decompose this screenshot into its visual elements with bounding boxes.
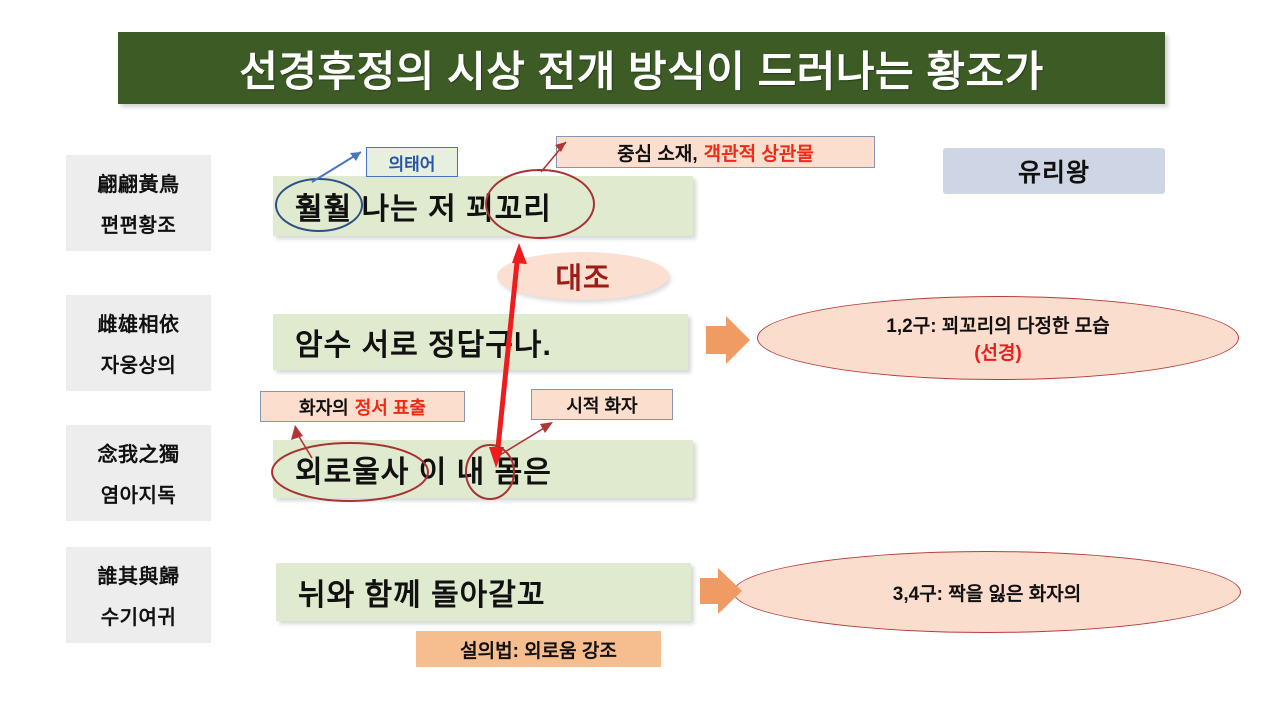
hanja-line: 念我之獨: [98, 438, 180, 467]
callout-poetic-speaker-text: 시적 화자: [566, 392, 637, 418]
contrast-ellipse: 대조: [497, 252, 669, 300]
callout-emotion-plain: 화자의: [299, 394, 349, 420]
hanja-block-2: 雌雄相依 자웅상의: [66, 295, 211, 391]
verse-box-3: 외로울사 이 내 몸은: [273, 440, 693, 498]
slide-title-bar: 선경후정의 시상 전개 방식이 드러나는 황조가: [118, 32, 1165, 104]
verse-text-2: 암수 서로 정답구나.: [295, 320, 552, 364]
summary-2-line1: 3,4구: 짝을 잃은 화자의: [893, 579, 1081, 606]
verse-text-1: 훨훨 나는 저 꾀꼬리: [295, 184, 552, 228]
verse-text-3: 외로울사 이 내 몸은: [295, 447, 552, 491]
verse-box-2: 암수 서로 정답구나.: [273, 314, 688, 370]
hanja-block-3: 念我之獨 염아지독: [66, 425, 211, 521]
block-arrow-right-icon-1: [706, 316, 750, 364]
hangul-line: 수기여귀: [101, 601, 177, 630]
summary-ellipse-1: 1,2구: 꾀꼬리의 다정한 모습 (선경): [757, 296, 1239, 380]
slide-title-text: 선경후정의 시상 전개 방식이 드러나는 황조가: [239, 38, 1044, 99]
hanja-line: 雌雄相依: [98, 308, 180, 337]
hanja-line: 翩翩黃鳥: [98, 168, 180, 197]
hangul-line: 편편황조: [101, 209, 177, 238]
verse-text-4: 뉘와 함께 돌아갈꼬: [298, 570, 545, 614]
callout-central-red: 객관적 상관물: [704, 139, 814, 166]
callout-emotion-red: 정서 표출: [355, 394, 426, 420]
hangul-line: 자웅상의: [101, 349, 177, 378]
verse-box-1: 훨훨 나는 저 꾀꼬리: [273, 176, 693, 236]
author-box: 유리왕: [943, 148, 1165, 194]
callout-speaker-emotion: 화자의 정서 표출: [260, 391, 465, 422]
hangul-line: 염아지독: [101, 479, 177, 508]
contrast-label: 대조: [555, 255, 610, 297]
callout-uitaeeo: 의태어: [366, 147, 458, 177]
callout-central-plain: 중심 소재,: [617, 139, 697, 166]
callout-rhetorical-text: 설의법: 외로움 강조: [460, 636, 617, 663]
callout-uitaeeo-text: 의태어: [389, 150, 436, 175]
author-name: 유리왕: [1018, 153, 1090, 189]
summary-1-line1: 1,2구: 꾀꼬리의 다정한 모습: [886, 311, 1109, 338]
callout-poetic-speaker: 시적 화자: [531, 389, 673, 420]
hanja-block-4: 誰其與歸 수기여귀: [66, 547, 211, 643]
hanja-block-1: 翩翩黃鳥 편편황조: [66, 155, 211, 251]
slide-canvas: 선경후정의 시상 전개 방식이 드러나는 황조가 翩翩黃鳥 편편황조 雌雄相依 …: [0, 0, 1280, 720]
summary-1-line2: (선경): [974, 338, 1022, 365]
summary-ellipse-2: 3,4구: 짝을 잃은 화자의: [733, 551, 1241, 633]
callout-central-material: 중심 소재, 객관적 상관물: [556, 136, 875, 168]
callout-rhetorical-question: 설의법: 외로움 강조: [416, 631, 661, 667]
verse-box-4: 뉘와 함께 돌아갈꼬: [276, 563, 691, 621]
hanja-line: 誰其與歸: [98, 560, 180, 589]
